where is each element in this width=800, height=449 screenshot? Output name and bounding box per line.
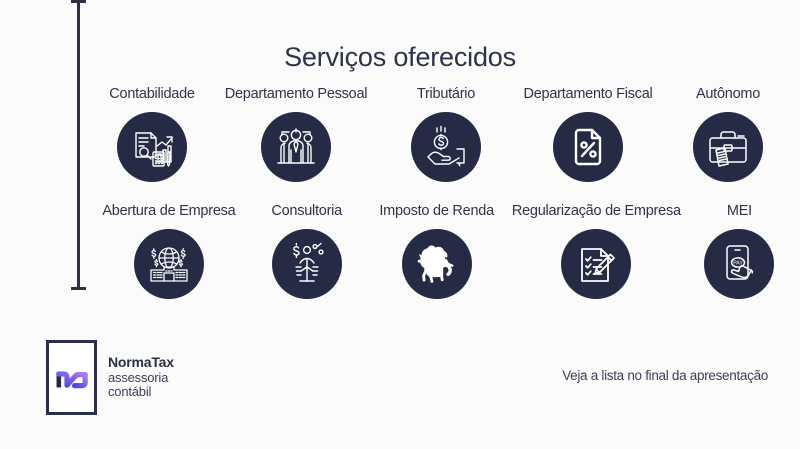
service-item-contabilidade[interactable]: Contabilidade	[92, 86, 212, 182]
hand-coin-icon	[411, 112, 481, 182]
document-percent-icon	[553, 112, 623, 182]
service-item-consultoria[interactable]: Consultoria	[246, 203, 368, 299]
service-label: Imposto de Renda	[379, 203, 494, 220]
checklist-pencil-icon	[561, 229, 631, 299]
globe-buildings-icon	[134, 229, 204, 299]
brand-tagline-line1: assessoria	[108, 371, 174, 386]
service-item-tributario[interactable]: Tributário	[380, 86, 512, 182]
service-label: Tributário	[417, 86, 475, 103]
service-item-regularizacao-de-empresa[interactable]: Regularização de Empresa	[506, 203, 687, 299]
service-item-departamento-fiscal[interactable]: Departamento Fiscal	[512, 86, 664, 182]
service-label: Autônomo	[696, 86, 760, 103]
service-item-mei[interactable]: MEI PAY	[687, 203, 792, 299]
normatax-n-monogram	[46, 340, 97, 415]
mobile-pay-icon: PAY	[704, 229, 774, 299]
service-item-abertura-de-empresa[interactable]: Abertura de Empresa	[92, 203, 246, 299]
slide-canvas: Serviços oferecidos Contabilidade	[0, 0, 800, 449]
service-label: Consultoria	[271, 203, 342, 220]
left-rule-bottom-cap	[71, 287, 86, 290]
service-label: Contabilidade	[109, 86, 194, 103]
service-item-autonomo[interactable]: Autônomo	[664, 86, 792, 182]
briefcase-icon	[693, 112, 763, 182]
service-label: MEI	[727, 203, 752, 220]
service-label: Regularização de Empresa	[512, 203, 681, 220]
brand-tagline-line2: contábil	[108, 385, 174, 400]
services-grid: Contabilidade	[92, 86, 792, 299]
left-rule-top-cap	[71, 0, 86, 3]
service-item-departamento-pessoal[interactable]: Departamento Pessoal	[212, 86, 380, 182]
brand-logo: NormaTax assessoria contábil	[46, 340, 174, 415]
service-label: Departamento Pessoal	[225, 86, 368, 103]
services-row-1: Contabilidade	[92, 86, 792, 182]
accounting-report-icon	[117, 112, 187, 182]
people-group-icon	[261, 112, 331, 182]
services-row-2: Abertura de Empresa	[92, 203, 792, 299]
brand-name: NormaTax	[108, 355, 174, 371]
brand-logo-text: NormaTax assessoria contábil	[108, 355, 174, 400]
page-title: Serviços oferecidos	[0, 42, 800, 73]
consulting-person-icon	[272, 229, 342, 299]
footnote-text: Veja a lista no final da apresentação	[562, 368, 768, 383]
service-label: Abertura de Empresa	[102, 203, 235, 220]
service-label: Departamento Fiscal	[523, 86, 652, 103]
service-item-imposto-de-renda[interactable]: Imposto de Renda	[368, 203, 506, 299]
lion-icon	[402, 229, 472, 299]
